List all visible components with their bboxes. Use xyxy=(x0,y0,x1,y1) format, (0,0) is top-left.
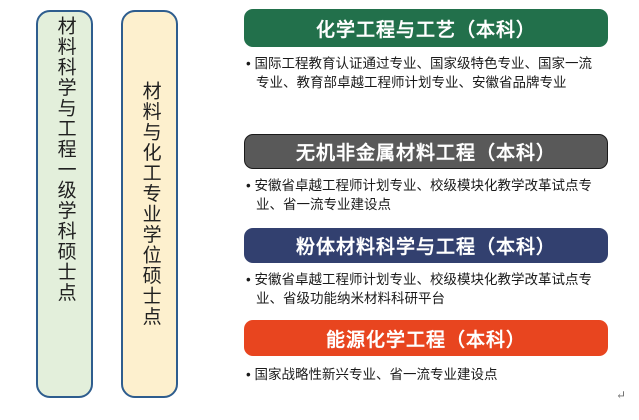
vertical-panel-materials-chemical-engineering: 材料与化工专业学位硕士点 xyxy=(121,10,178,398)
major-description: • 国际工程教育认证通过专业、国家级特色专业、国家一流专业、教育部卓越工程师计划… xyxy=(244,54,596,92)
major-title-bar[interactable]: 粉体材料科学与工程（本科） xyxy=(244,228,608,263)
major-block: 无机非金属材料工程（本科） • 安徽省卓越工程师计划专业、校级模块化教学改革试点… xyxy=(244,134,608,214)
major-block: 粉体材料科学与工程（本科） • 安徽省卓越工程师计划专业、校级模块化教学改革试点… xyxy=(244,228,608,308)
major-description: • 安徽省卓越工程师计划专业、校级模块化教学改革试点专业、省一流专业建设点 xyxy=(244,176,596,214)
major-description: • 国家战略性新兴专业、省一流专业建设点 xyxy=(244,365,596,384)
major-title-bar[interactable]: 化学工程与工艺（本科） xyxy=(244,9,608,47)
major-description: • 安徽省卓越工程师计划专业、校级模块化教学改革试点专业、省级功能纳米材料科研平… xyxy=(244,270,596,308)
major-title-label: 化学工程与工艺（本科） xyxy=(316,15,536,42)
paragraph-mark-icon: ↵ xyxy=(616,388,626,403)
major-title-label: 粉体材料科学与工程（本科） xyxy=(296,232,556,259)
vertical-panel-materials-science-engineering: 材料科学与工程一级学科硕士点 xyxy=(36,10,93,398)
majors-list: 化学工程与工艺（本科） • 国际工程教育认证通过专业、国家级特色专业、国家一流专… xyxy=(244,0,639,420)
major-title-bar[interactable]: 无机非金属材料工程（本科） xyxy=(244,134,608,169)
major-title-label: 能源化学工程（本科） xyxy=(326,325,526,352)
major-title-bar[interactable]: 能源化学工程（本科） xyxy=(244,320,608,356)
vertical-panel-label: 材料科学与工程一级学科硕士点 xyxy=(52,16,76,303)
vertical-panel-label: 材料与化工专业学位硕士点 xyxy=(137,81,161,327)
major-block: 化学工程与工艺（本科） • 国际工程教育认证通过专业、国家级特色专业、国家一流专… xyxy=(244,9,608,92)
major-block: 能源化学工程（本科） • 国家战略性新兴专业、省一流专业建设点 xyxy=(244,320,608,384)
major-title-label: 无机非金属材料工程（本科） xyxy=(296,138,556,165)
